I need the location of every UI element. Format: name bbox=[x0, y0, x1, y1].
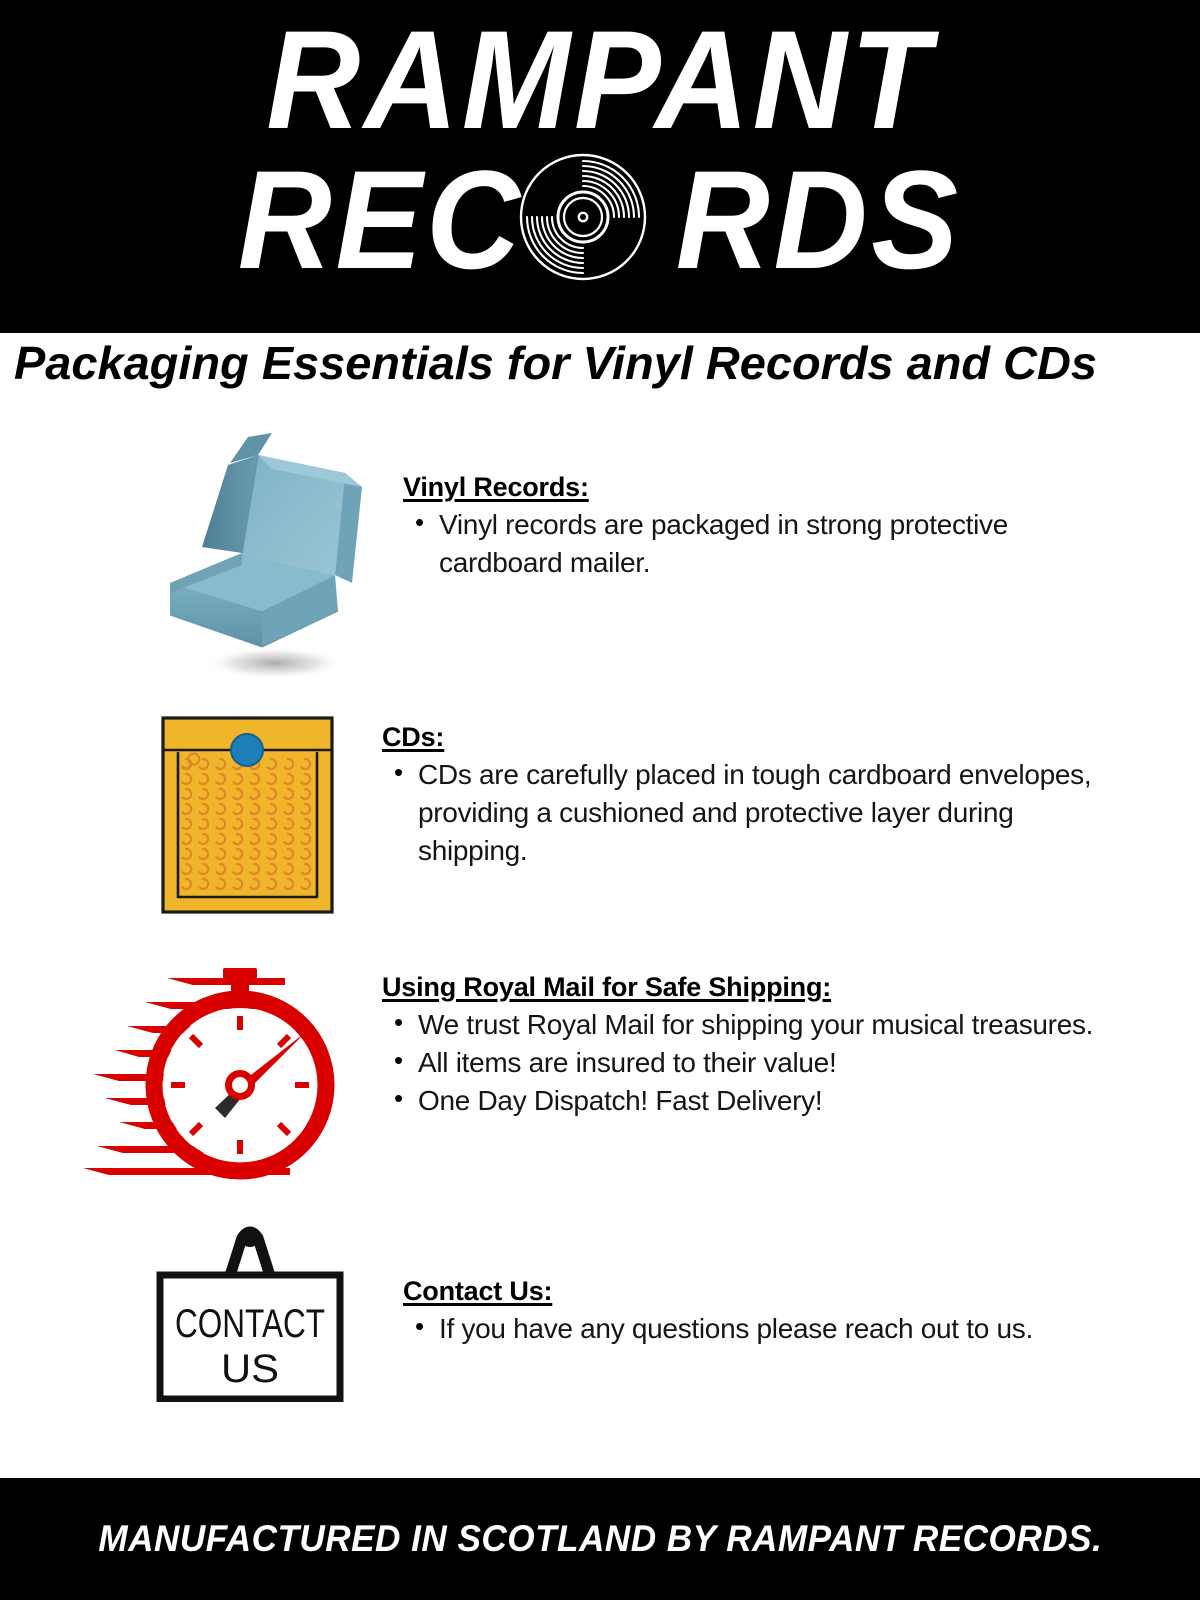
royal-mail-bullet-list: We trust Royal Mail for shipping your mu… bbox=[382, 1006, 1102, 1120]
vinyl-records-text-block: Vinyl Records: Vinyl records are package… bbox=[403, 472, 1103, 582]
sign-line-2: US bbox=[221, 1347, 279, 1391]
sign-line-1: CONTACT bbox=[175, 1302, 325, 1346]
contact-us-sign-icon: CONTACT US bbox=[150, 1222, 350, 1402]
list-item: All items are insured to their value! bbox=[382, 1044, 1102, 1082]
fast-stopwatch-icon bbox=[75, 960, 350, 1195]
list-item: CDs are carefully placed in tough cardbo… bbox=[382, 756, 1102, 870]
brand-line-1: RAMPANT bbox=[42, 10, 1158, 150]
contact-bullet-list: If you have any questions please reach o… bbox=[403, 1310, 1123, 1348]
brand-line-2-after: RDS bbox=[676, 150, 962, 290]
footer-text: MANUFACTURED IN SCOTLAND BY RAMPANT RECO… bbox=[98, 1518, 1102, 1560]
poster-root: RAMPANT REC RDS bbox=[0, 0, 1200, 1600]
section-heading-vinyl: Vinyl Records: bbox=[403, 472, 1103, 503]
list-item: One Day Dispatch! Fast Delivery! bbox=[382, 1082, 1102, 1120]
list-item: If you have any questions please reach o… bbox=[403, 1310, 1123, 1348]
padded-envelope-icon bbox=[160, 715, 335, 915]
brand-line-2-before: REC bbox=[238, 150, 524, 290]
cds-text-block: CDs: CDs are carefully placed in tough c… bbox=[382, 722, 1102, 870]
vinyl-bullet-list: Vinyl records are packaged in strong pro… bbox=[403, 506, 1103, 582]
cardboard-mailer-box-icon bbox=[130, 425, 400, 685]
page-subtitle: Packaging Essentials for Vinyl Records a… bbox=[14, 340, 1200, 386]
header-band: RAMPANT REC RDS bbox=[0, 0, 1200, 333]
cds-bullet-list: CDs are carefully placed in tough cardbo… bbox=[382, 756, 1102, 870]
list-item: Vinyl records are packaged in strong pro… bbox=[403, 506, 1103, 582]
section-heading-royal-mail: Using Royal Mail for Safe Shipping: bbox=[382, 972, 1102, 1003]
section-heading-cds: CDs: bbox=[382, 722, 1102, 753]
vinyl-record-icon bbox=[518, 152, 648, 282]
list-item: We trust Royal Mail for shipping your mu… bbox=[382, 1006, 1102, 1044]
contact-us-text-block: Contact Us: If you have any questions pl… bbox=[403, 1276, 1123, 1348]
royal-mail-text-block: Using Royal Mail for Safe Shipping: We t… bbox=[382, 972, 1102, 1120]
section-heading-contact: Contact Us: bbox=[403, 1276, 1123, 1307]
footer-band: MANUFACTURED IN SCOTLAND BY RAMPANT RECO… bbox=[0, 1478, 1200, 1600]
